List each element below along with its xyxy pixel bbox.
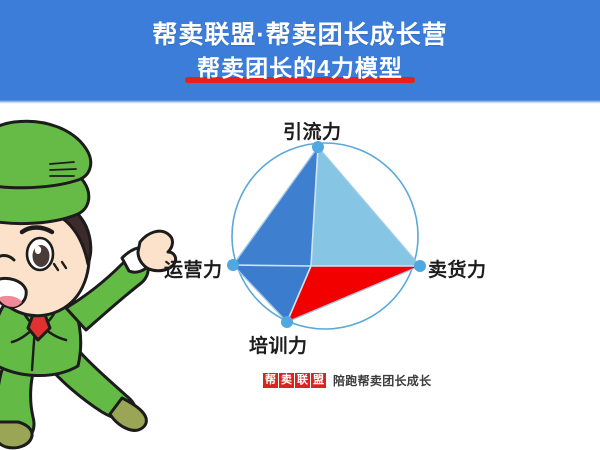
page-title-line1: 帮卖联盟·帮卖团长成长营 (152, 20, 447, 50)
vertex-label-top: 引流力 (283, 117, 342, 144)
footer-tagline: 陪跑帮卖团长成长 (333, 372, 431, 389)
logo-char-1: 帮 (263, 373, 278, 388)
page-subtitle-wrapper: 帮卖团长的4力模型 (191, 54, 409, 84)
mascot-pupil-right (33, 245, 50, 267)
face-top-right-front (311, 147, 420, 266)
header-banner: 帮卖联盟·帮卖团长成长营 帮卖团长的4力模型 (0, 0, 600, 103)
vertex-label-bottom: 培训力 (249, 331, 308, 358)
header-banner-content: 帮卖联盟·帮卖团长成长营 帮卖团长的4力模型 (0, 0, 600, 103)
brand-logo: 帮 卖 联 盟 (263, 373, 326, 388)
logo-char-2: 卖 (279, 373, 294, 388)
slide-canvas: 帮卖联盟·帮卖团长成长营 帮卖团长的4力模型 (0, 0, 600, 450)
page-title-line2: 帮卖团长的4力模型 (197, 55, 403, 81)
vertex-dot-left[interactable] (227, 259, 239, 271)
logo-char-3: 联 (295, 373, 310, 388)
vertex-label-right: 卖货力 (428, 255, 487, 282)
mascot-cap-crown (0, 121, 91, 188)
mascot-eye-highlight (35, 246, 41, 254)
vertex-dot-right[interactable] (414, 260, 426, 272)
logo-char-4: 盟 (311, 373, 326, 388)
mascot-back-shoe (0, 422, 32, 448)
footer-brand: 帮 卖 联 盟 陪跑帮卖团长成长 (263, 372, 431, 389)
vertex-label-left: 运营力 (164, 255, 223, 282)
banner-bottom-edge (0, 100, 600, 104)
vertex-dot-bottom[interactable] (281, 316, 293, 328)
four-force-model-diagram (150, 108, 520, 373)
